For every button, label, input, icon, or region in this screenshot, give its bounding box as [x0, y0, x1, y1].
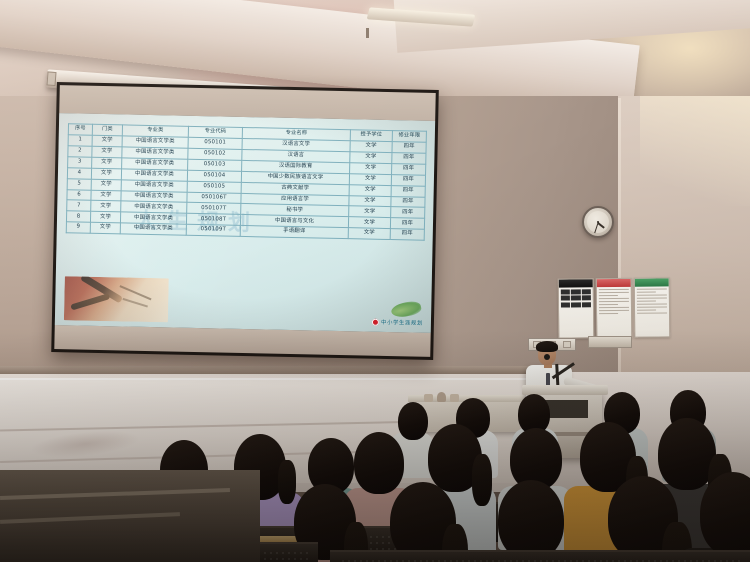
table-cell: 四年: [390, 218, 424, 230]
slide-logo: 中小学生涯规划: [372, 318, 423, 327]
table-cell: 文学: [91, 201, 121, 213]
slide-calligraphy-artwork: [64, 276, 169, 322]
table-cell: 3: [68, 156, 92, 167]
table-cell: 文学: [350, 162, 392, 174]
table-cell: 四年: [392, 152, 426, 164]
table-cell: 四年: [392, 141, 426, 153]
table-cell: 文学: [349, 195, 391, 207]
presenter-hair: [536, 341, 558, 352]
ceiling-wire: [366, 28, 369, 38]
table-cell: 050109T: [186, 225, 240, 237]
right-wall-sunlight: [640, 96, 750, 206]
table-cell: 文学: [349, 184, 391, 196]
table-cell: 8: [66, 211, 90, 222]
poster-green: [634, 277, 671, 337]
table-cell: 文学: [91, 168, 121, 180]
poster-red: [596, 278, 633, 338]
table-cell: 四年: [391, 207, 425, 219]
table-cell: 文学: [91, 190, 121, 202]
wall-clock: [582, 206, 614, 238]
table-cell: 文学: [348, 228, 390, 240]
table-cell: 5: [67, 178, 91, 189]
table-cell: 9: [66, 222, 90, 233]
table-cell: 文学: [90, 212, 120, 224]
logo-mark-icon: [372, 318, 379, 325]
clock-face: [587, 211, 609, 233]
table-cell: 四年: [391, 196, 425, 208]
table-cell: 四年: [390, 229, 424, 241]
classroom-photo: 人生规划 序号 门类 专业类 专业代码 专业名称: [0, 0, 750, 562]
table-cell: 文学: [349, 206, 391, 218]
microphone-icon: [544, 354, 550, 360]
leaf-icon: [390, 299, 422, 319]
projected-slide-area: 人生规划 序号 门类 专业类 专业代码 专业名称: [55, 113, 435, 333]
projector-screen: 人生规划 序号 门类 专业类 专业代码 专业名称: [51, 82, 439, 360]
table-cell: 文学: [92, 135, 122, 147]
table-cell: 文学: [350, 140, 392, 152]
table-cell: 6: [67, 189, 91, 200]
clock-minute-hand: [594, 222, 599, 233]
table-cell: 文学: [92, 146, 122, 158]
screen-roller-bracket: [47, 71, 57, 86]
projector-screen-assembly: 人生规划 序号 门类 专业类 专业代码 专业名称: [45, 67, 447, 370]
table-cell: 文学: [348, 217, 390, 229]
slide-logo-text: 中小学生涯规划: [381, 318, 423, 327]
th-修业年限: 修业年限: [392, 131, 426, 142]
majors-table-body: 1文学中国语言文学类050101汉语言文学文学四年2文学中国语言文学类05010…: [66, 135, 426, 241]
seat-row-front-right[interactable]: [330, 550, 750, 562]
table-cell: 中国语言文学类: [120, 223, 186, 235]
table-cell: 四年: [391, 185, 425, 197]
table-cell: 文学: [349, 173, 391, 185]
table-cell: 7: [67, 200, 91, 211]
th-门类: 门类: [92, 124, 122, 135]
poster-dark-body: [559, 287, 594, 337]
poster-dark: [558, 278, 595, 338]
th-序号: 序号: [68, 124, 92, 135]
table-cell: 4: [67, 167, 91, 178]
majors-table: 序号 门类 专业类 专业代码 专业名称 授予学位 修业年限 1文学中国语言文学类…: [66, 123, 427, 241]
table-cell: 1: [68, 135, 92, 146]
wall-poster-group: [558, 277, 671, 338]
table-cell: 四年: [391, 174, 425, 186]
table-cell: 文学: [92, 157, 122, 169]
table-cell: 文学: [350, 151, 392, 163]
table-cell: 手语翻译: [240, 226, 348, 239]
poster-dark-grid: [561, 289, 591, 307]
table-cell: 四年: [392, 163, 426, 175]
poster-green-body: [635, 286, 670, 336]
table-cell: 文学: [91, 179, 121, 191]
table-cell: 2: [68, 145, 92, 156]
poster-red-body: [597, 287, 632, 337]
table-cell: 文学: [90, 223, 120, 235]
slide: 人生规划 序号 门类 专业类 专业代码 专业名称: [55, 113, 435, 333]
clock-hour-hand: [598, 222, 605, 228]
